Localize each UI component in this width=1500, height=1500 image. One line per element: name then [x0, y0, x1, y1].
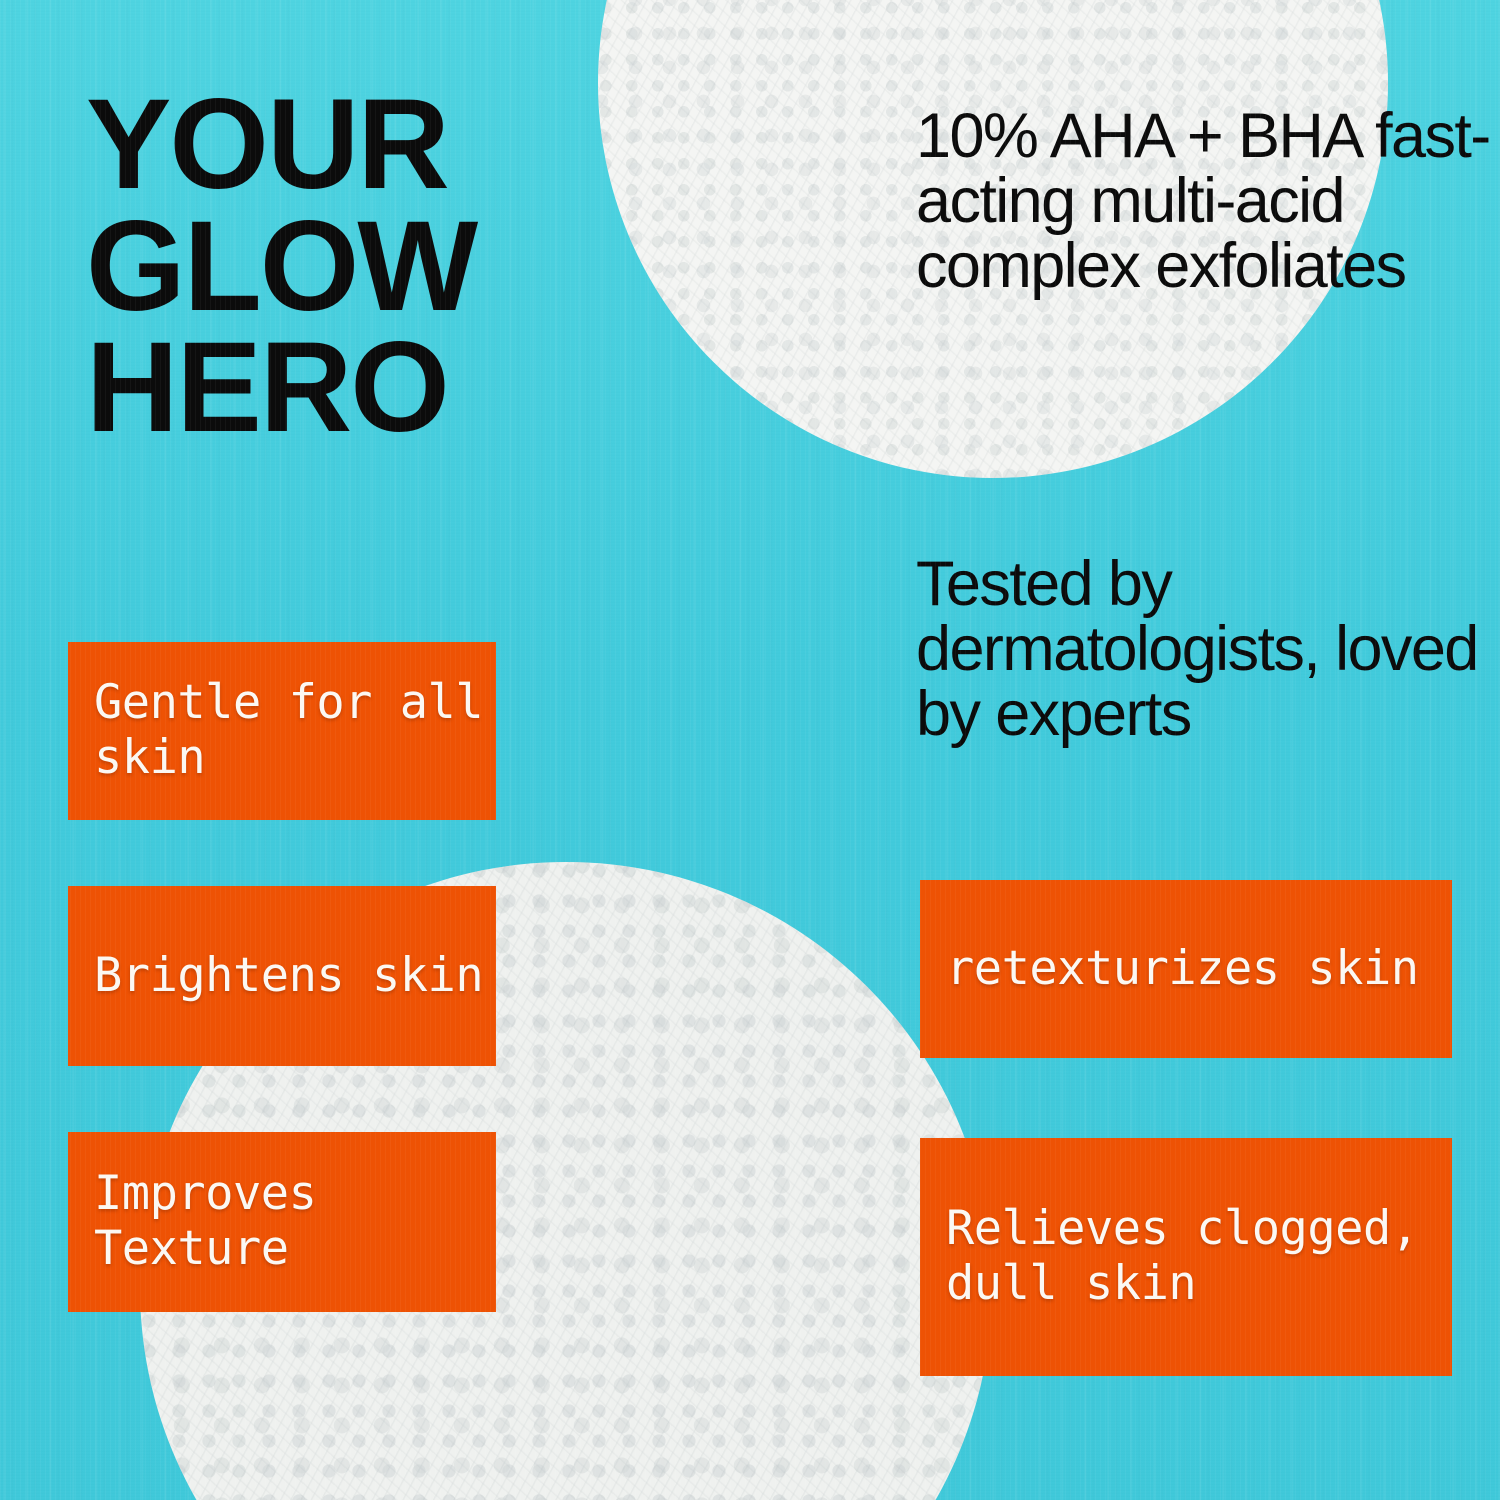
- benefit-badge-brightens: Brightens skin: [68, 886, 496, 1066]
- benefit-badge-gentle: Gentle for all skin: [68, 642, 496, 820]
- benefit-badge-improves: Improves Texture: [68, 1132, 496, 1312]
- credibility-claim-text: Tested by dermatologists, loved by exper…: [916, 552, 1500, 747]
- benefit-badge-retexturizes-label: retexturizes skin: [920, 942, 1419, 997]
- benefit-badge-gentle-label: Gentle for all skin: [68, 676, 496, 785]
- benefit-badge-improves-label: Improves Texture: [68, 1167, 496, 1276]
- benefit-badge-relieves: Relieves clogged, dull skin: [920, 1138, 1452, 1376]
- benefit-badge-brightens-label: Brightens skin: [68, 949, 483, 1004]
- headline-line-1: YOUR: [86, 84, 626, 206]
- headline-line-3: HERO: [86, 327, 626, 449]
- product-benefits-infographic: YOUR GLOW HERO 10% AHA + BHA fast-acting…: [0, 0, 1500, 1500]
- page-title: YOUR GLOW HERO: [86, 84, 626, 449]
- headline-line-2: GLOW: [86, 206, 626, 328]
- benefit-badge-retexturizes: retexturizes skin: [920, 880, 1452, 1058]
- benefit-badge-relieves-label: Relieves clogged, dull skin: [920, 1202, 1452, 1311]
- actives-claim-text: 10% AHA + BHA fast-acting multi-acid com…: [916, 104, 1500, 299]
